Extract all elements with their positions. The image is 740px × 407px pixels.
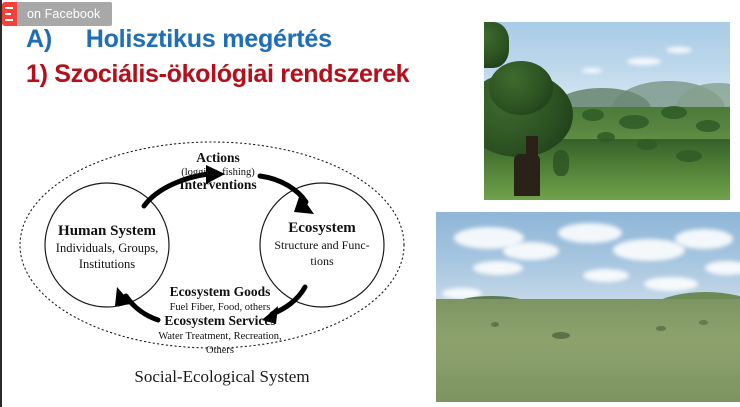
ecosystem-services-title: Ecosystem Services bbox=[164, 313, 275, 328]
diagram-caption: Social-Ecological System bbox=[134, 367, 309, 386]
ecosystem-line2: tions bbox=[310, 254, 334, 268]
ecosystem-title: Ecosystem bbox=[288, 220, 356, 236]
actions-title: Actions bbox=[196, 150, 240, 165]
slide-canvas: on Facebook A) Holisztikus megértés 1) S… bbox=[0, 0, 740, 407]
social-ecological-system-diagram: Human System Individuals, Groups, Instit… bbox=[10, 132, 430, 394]
red-app-logo-icon bbox=[2, 2, 17, 26]
ecosystem-services-detail2: Others bbox=[206, 345, 234, 356]
slide-title-block: A) Holisztikus megértés 1) Szociális-öko… bbox=[26, 24, 446, 90]
human-system-title: Human System bbox=[58, 223, 156, 239]
human-system-line2: Institutions bbox=[79, 257, 135, 271]
grassland-hill-photo bbox=[436, 212, 740, 402]
heading-primary: A) Holisztikus megértés bbox=[26, 24, 446, 54]
wooded-pasture-landscape-photo bbox=[484, 22, 730, 200]
ecosystem-services-detail1: Water Treatment, Recreation, bbox=[158, 331, 281, 342]
ecosystem-line1: Structure and Func- bbox=[274, 238, 369, 252]
human-system-line1: Individuals, Groups, bbox=[56, 241, 158, 255]
ecosystem-goods-title: Ecosystem Goods bbox=[170, 284, 271, 299]
interventions-label: Interventions bbox=[179, 177, 256, 192]
heading-secondary: 1) Szociális-ökológiai rendszerek bbox=[26, 58, 446, 90]
facebook-share-overlay[interactable]: on Facebook bbox=[2, 2, 112, 26]
overlay-label: on Facebook bbox=[17, 2, 112, 26]
ecosystem-goods-detail: Fuel Fiber, Food, others bbox=[170, 302, 271, 313]
